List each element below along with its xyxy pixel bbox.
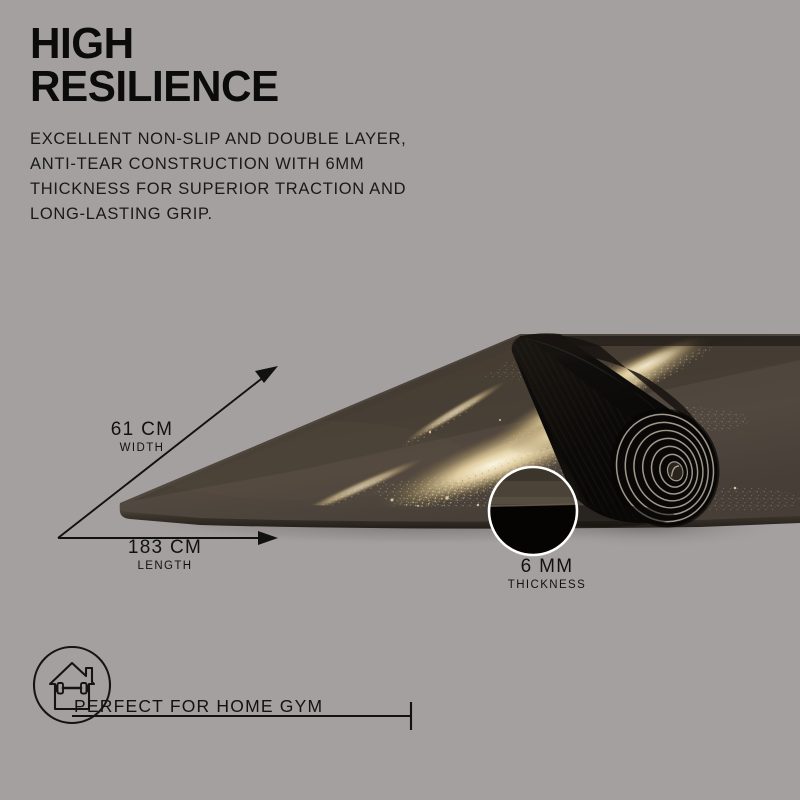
length-value: 183 CM	[95, 538, 235, 558]
thickness-value: 6 MM	[472, 557, 622, 577]
thickness-magnifier	[489, 467, 577, 555]
thickness-dimension-label: 6 MM THICKNESS	[472, 557, 622, 591]
dumbbell-icon	[56, 683, 88, 694]
infographic-canvas: HIGH RESILIENCE EXCELLENT NON-SLIP AND D…	[0, 0, 800, 800]
length-caption: LENGTH	[95, 560, 235, 572]
thickness-caption: THICKNESS	[472, 579, 622, 591]
width-caption: WIDTH	[82, 442, 202, 454]
product-illustration	[0, 0, 800, 800]
home-gym-badge-text: PERFECT FOR HOME GYM	[74, 696, 323, 717]
width-dimension-label: 61 CM WIDTH	[82, 420, 202, 454]
width-value: 61 CM	[82, 420, 202, 440]
length-dimension-label: 183 CM LENGTH	[95, 538, 235, 572]
